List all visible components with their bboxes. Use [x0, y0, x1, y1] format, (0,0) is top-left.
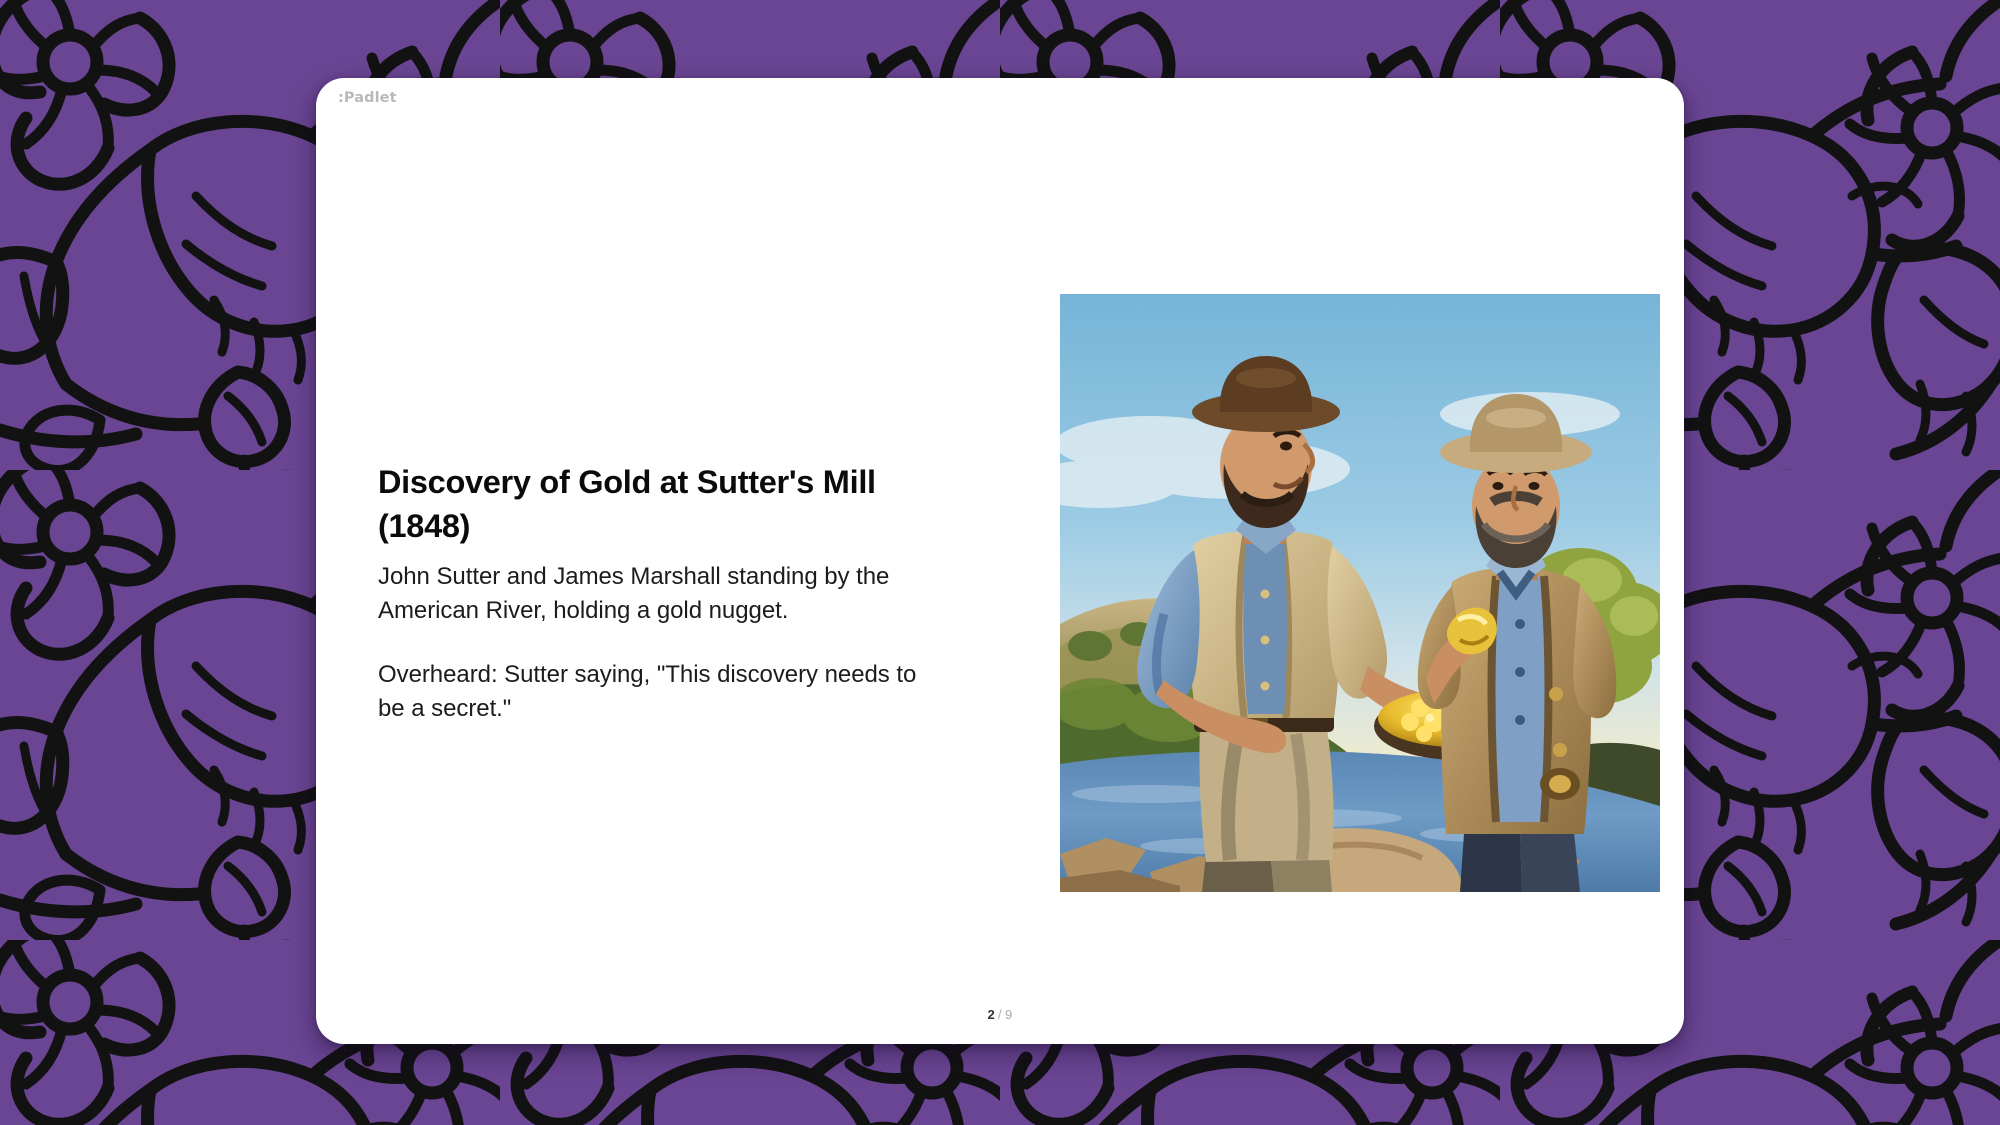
- slide-paragraph-2: Overheard: Sutter saying, "This discover…: [378, 658, 944, 726]
- sutters-mill-illustration[interactable]: [1060, 294, 1660, 892]
- slide-media-column: [978, 294, 1660, 892]
- page-indicator: 2/9: [316, 1007, 1684, 1022]
- slide-viewer: :Padlet Discovery of Gold at Sutter's Mi…: [0, 0, 2000, 1125]
- page-separator: /: [998, 1007, 1002, 1022]
- padlet-logo[interactable]: :Padlet: [338, 90, 397, 106]
- slide-content: Discovery of Gold at Sutter's Mill (1848…: [316, 208, 1684, 978]
- page-current: 2: [988, 1007, 996, 1022]
- slide-title: Discovery of Gold at Sutter's Mill (1848…: [378, 460, 944, 548]
- slide-paragraph-1: John Sutter and James Marshall standing …: [378, 560, 944, 628]
- page-total: 9: [1005, 1007, 1013, 1022]
- slide-card: :Padlet Discovery of Gold at Sutter's Mi…: [316, 78, 1684, 1044]
- slide-text-column: Discovery of Gold at Sutter's Mill (1848…: [378, 460, 978, 727]
